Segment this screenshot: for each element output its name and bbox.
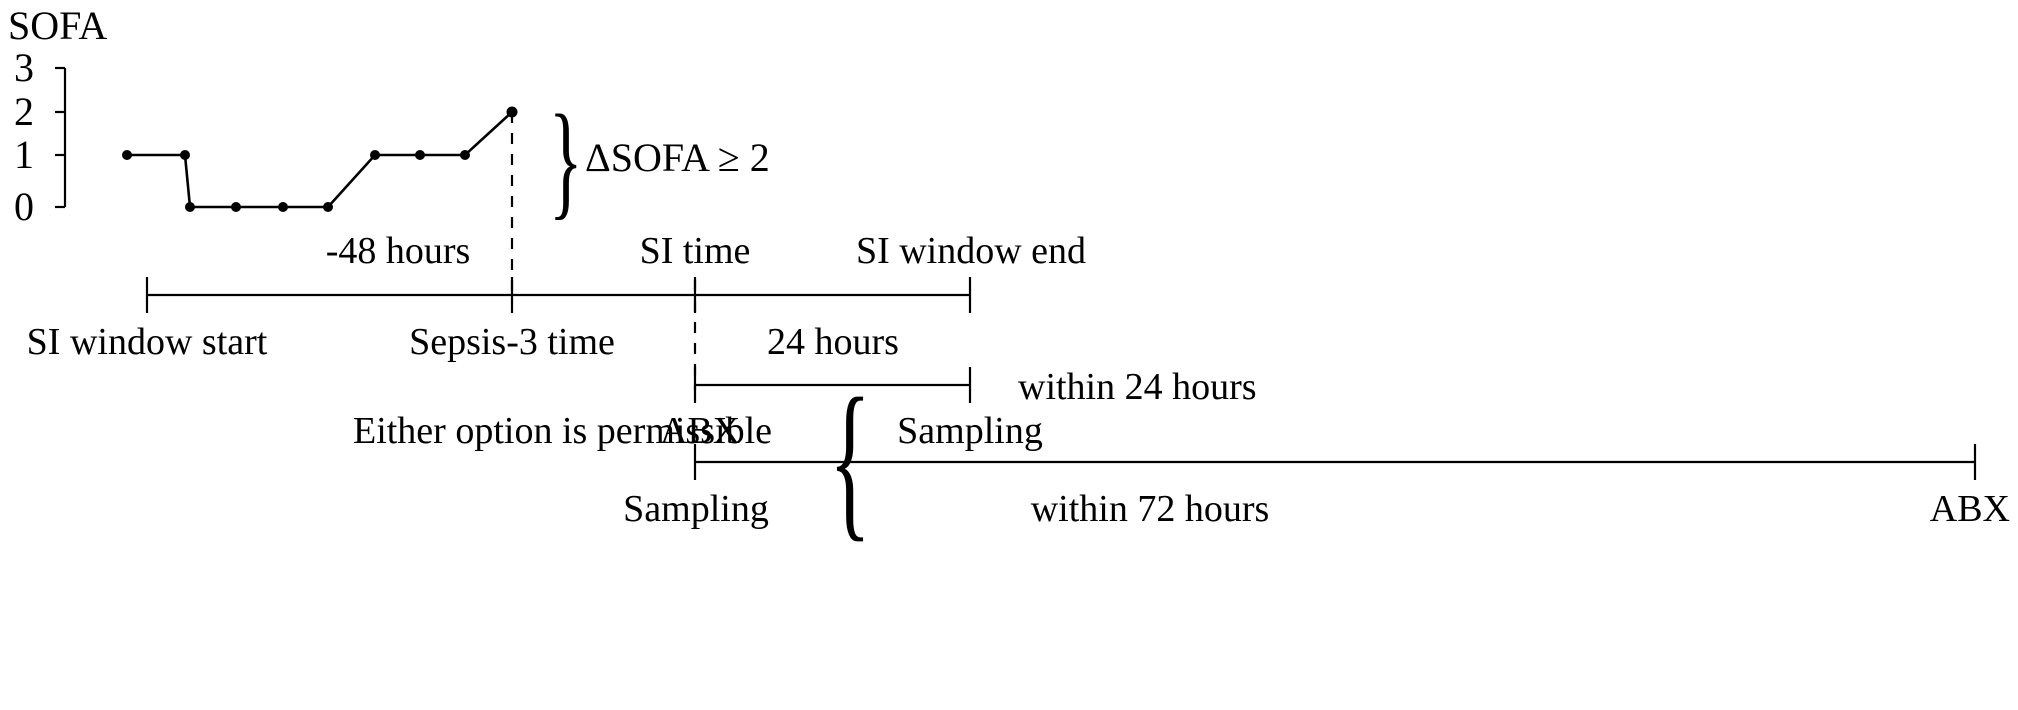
y-tick-label-1: 1 (14, 135, 34, 175)
data-point (185, 202, 195, 212)
data-point (180, 150, 190, 160)
sofa-axis (55, 68, 65, 207)
y-tick-label-2: 2 (14, 92, 34, 132)
sepsis3-time-label: Sepsis-3 time (409, 323, 615, 361)
either-option-brace: { (829, 372, 871, 547)
data-point (415, 150, 425, 160)
axis-title-sofa: SOFA (8, 6, 107, 46)
delta-sofa-brace: } (549, 96, 583, 224)
si-time-label: SI time (640, 232, 751, 270)
delta-sofa-label: ΔSOFA ≥ 2 (585, 138, 770, 178)
main-timeline (147, 277, 970, 313)
data-point (278, 202, 288, 212)
minus-48-hours-label: -48 hours (326, 232, 471, 270)
diagram-vector-layer (0, 0, 2018, 710)
si-window-start-label: SI window start (27, 323, 268, 361)
sofa-data-points (122, 107, 518, 213)
data-point (231, 202, 241, 212)
sampling-lower-label: Sampling (623, 490, 769, 528)
abx-lower-label: ABX (1930, 490, 2010, 528)
y-tick-label-0: 0 (14, 187, 34, 227)
within-72-hours-label: within 72 hours (1031, 490, 1270, 528)
sampling-upper-label: Sampling (897, 412, 1043, 450)
data-point (323, 202, 333, 212)
twentyfour-hours-label: 24 hours (767, 323, 899, 361)
data-point (370, 150, 380, 160)
abx-upper-label: ABX (660, 412, 740, 450)
diagram-canvas: SOFA 3 2 1 0 } ΔSOFA ≥ 2 -48 hours SI ti… (0, 0, 2018, 710)
data-point (122, 150, 132, 160)
within-24-hours-label: within 24 hours (1018, 368, 1257, 406)
data-point (460, 150, 470, 160)
si-window-end-label: SI window end (856, 232, 1086, 270)
y-tick-label-3: 3 (14, 48, 34, 88)
within-72h-timeline (695, 444, 1975, 480)
